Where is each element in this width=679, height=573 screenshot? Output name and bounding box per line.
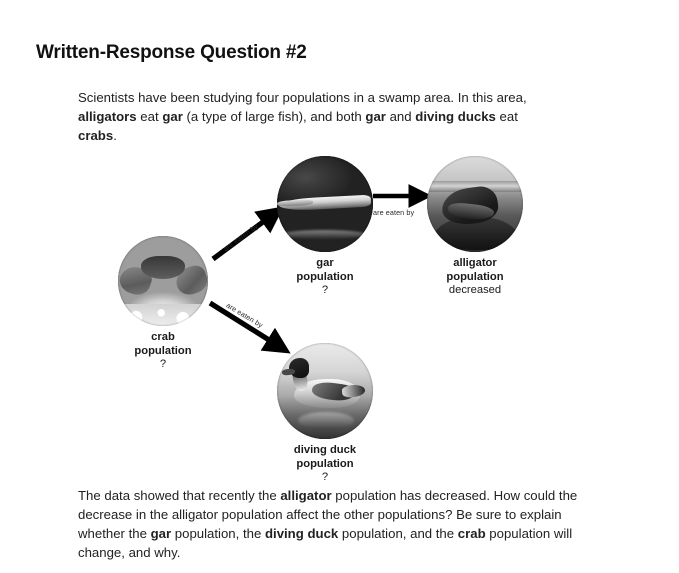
alligator-head bbox=[440, 184, 500, 228]
duck-bill bbox=[282, 368, 296, 375]
crab-sand bbox=[118, 304, 208, 326]
duck-neck bbox=[291, 365, 310, 392]
page-title: Written-Response Question #2 bbox=[36, 42, 307, 64]
alligator-label: alligator population decreased bbox=[427, 257, 523, 298]
duck-wing bbox=[311, 380, 355, 403]
crab-photo bbox=[118, 236, 208, 326]
gar-fish-body bbox=[279, 195, 372, 212]
gar-snout bbox=[277, 199, 314, 207]
diving-duck-label-line2: population bbox=[277, 458, 373, 472]
crab-population-state: ? bbox=[118, 358, 208, 372]
diving-duck-photo bbox=[277, 343, 373, 439]
duck-body bbox=[294, 379, 359, 408]
diving-duck-label-line1: diving duck bbox=[277, 444, 373, 458]
crab-claw-left bbox=[118, 263, 154, 298]
crab-photo-art bbox=[118, 236, 208, 326]
diving-duck-population-state: ? bbox=[277, 471, 373, 485]
diving-duck-label: diving duck population ? bbox=[277, 444, 373, 485]
crab-label-line2: population bbox=[118, 345, 208, 359]
alligator-jaw bbox=[447, 202, 494, 222]
duck-water bbox=[277, 399, 373, 439]
node-crab: crab population ? bbox=[118, 236, 208, 372]
worksheet-page: Written-Response Question #2 Scientists … bbox=[0, 0, 679, 573]
closing-paragraph: The data showed that recently the alliga… bbox=[78, 486, 580, 562]
gar-photo-art bbox=[277, 156, 373, 252]
crab-label-line1: crab bbox=[118, 331, 208, 345]
node-alligator: alligator population decreased bbox=[427, 156, 523, 298]
alligator-label-line1: alligator bbox=[427, 257, 523, 271]
food-web-diagram: crab population ? gar population ? bbox=[0, 140, 679, 480]
gar-label: gar population ? bbox=[277, 257, 373, 298]
gar-label-line2: population bbox=[277, 271, 373, 285]
alligator-label-line2: population bbox=[427, 271, 523, 285]
gar-population-state: ? bbox=[277, 284, 373, 298]
intro-paragraph: Scientists have been studying four popul… bbox=[78, 88, 558, 145]
alligator-horizon bbox=[427, 181, 523, 193]
edge-label-gar-to-alligator: are eaten by bbox=[373, 208, 414, 217]
crab-body bbox=[141, 256, 184, 279]
crab-label: crab population ? bbox=[118, 331, 208, 372]
duck-tail bbox=[342, 384, 366, 398]
duck-head bbox=[289, 358, 309, 377]
node-diving-duck: diving duck population ? bbox=[277, 343, 373, 485]
gar-label-line1: gar bbox=[277, 257, 373, 271]
alligator-photo bbox=[427, 156, 523, 252]
alligator-photo-art bbox=[427, 156, 523, 252]
duck-reflection bbox=[298, 412, 354, 429]
alligator-population-state: decreased bbox=[427, 284, 523, 298]
gar-photo bbox=[277, 156, 373, 252]
diving-duck-photo-art bbox=[277, 343, 373, 439]
alligator-back bbox=[433, 217, 519, 250]
crab-claw-right bbox=[172, 263, 208, 298]
gar-water-ripple bbox=[283, 230, 366, 239]
node-gar: gar population ? bbox=[277, 156, 373, 298]
